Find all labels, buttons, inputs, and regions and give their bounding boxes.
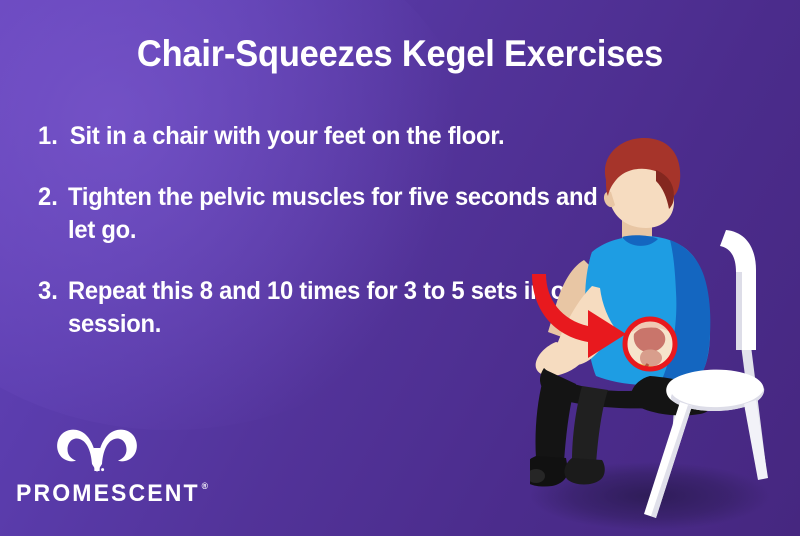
brand-logo: PROMESCENT ® — [16, 422, 246, 508]
step-number: 1. — [38, 120, 67, 153]
registered-trademark-icon: ® — [202, 480, 210, 492]
infographic-poster: Chair-Squeezes Kegel Exercises 1. Sit in… — [0, 0, 800, 536]
pelvic-anatomy-inset — [625, 319, 675, 371]
chair-backrest — [720, 230, 756, 350]
illustration-seated-man — [530, 136, 800, 536]
page-title: Chair-Squeezes Kegel Exercises — [28, 33, 772, 75]
shoe-far — [565, 458, 605, 485]
chair-front-leg-right — [744, 400, 768, 480]
step-number: 3. — [38, 275, 67, 308]
logo-wordmark-row: PROMESCENT ® — [16, 480, 237, 508]
logo-wordmark-text: PROMESCENT — [16, 480, 200, 508]
step-number: 2. — [38, 181, 67, 214]
step-text: Sit in a chair with your feet on the flo… — [68, 120, 504, 153]
illustration-svg — [530, 136, 800, 536]
aries-ram-horns-icon — [54, 422, 140, 474]
